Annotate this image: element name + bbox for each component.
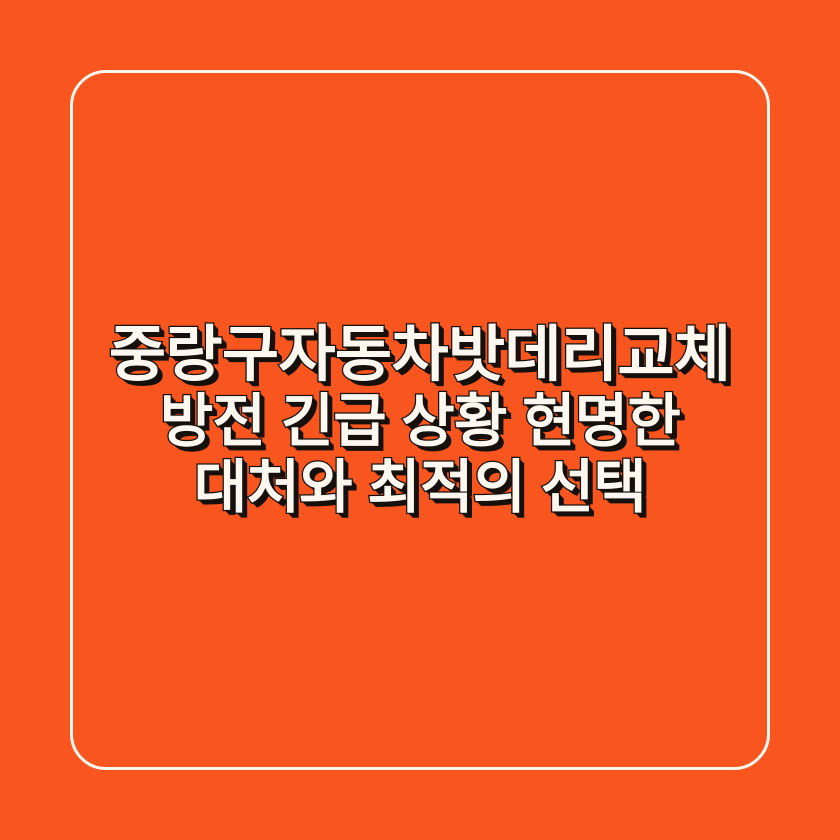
title-line-3: 대처와 최적의 선택 — [194, 459, 646, 517]
title-line-1: 중랑구자동차밧데리교체 — [109, 324, 730, 385]
thumbnail-card: 중랑구자동차밧데리교체 방전 긴급 상황 현명한 대처와 최적의 선택 — [0, 0, 840, 840]
title-line-2: 방전 긴급 상황 현명한 — [160, 393, 680, 451]
title-block: 중랑구자동차밧데리교체 방전 긴급 상황 현명한 대처와 최적의 선택 — [0, 0, 840, 840]
